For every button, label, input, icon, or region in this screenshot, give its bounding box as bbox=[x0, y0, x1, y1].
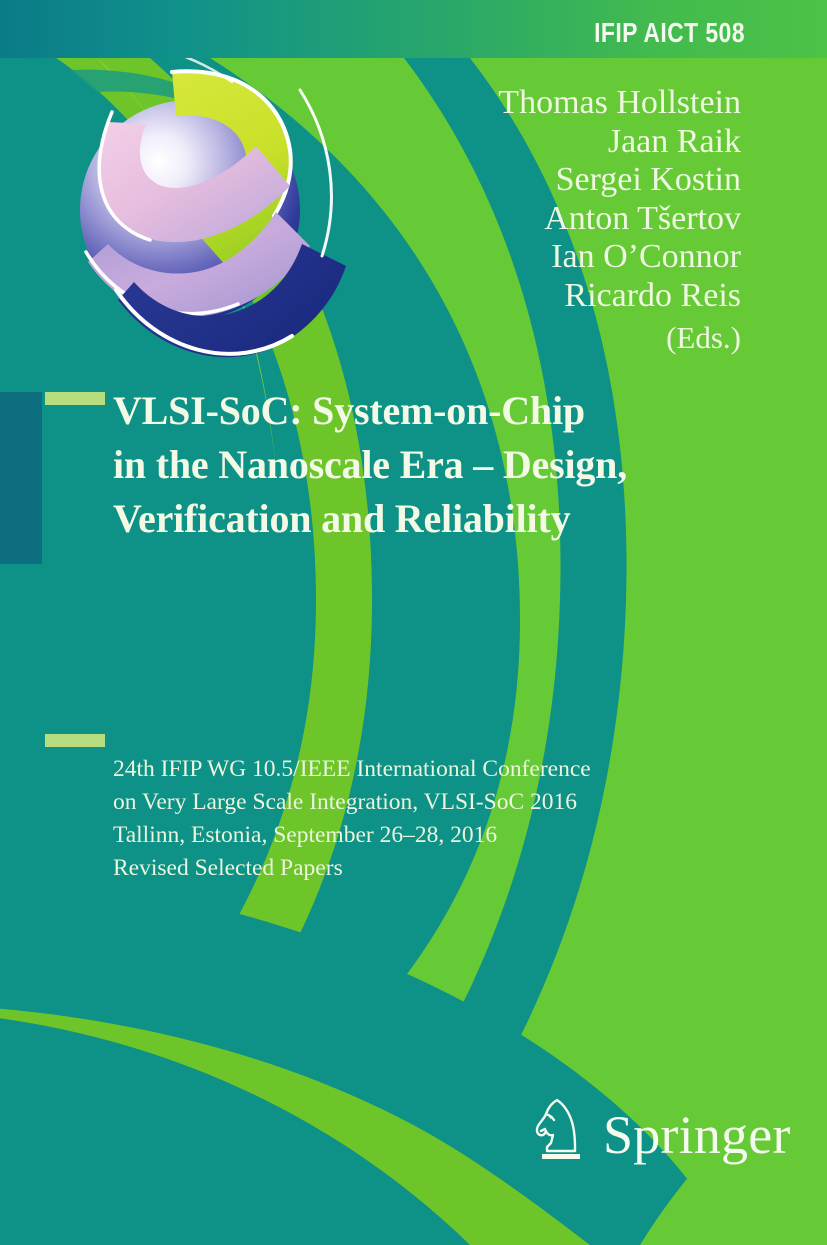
subtitle-line: on Very Large Scale Integration, VLSI-So… bbox=[113, 786, 813, 819]
springer-logo: Springer bbox=[527, 1093, 791, 1163]
title-accent-dash-icon bbox=[45, 392, 105, 405]
springer-wordmark: Springer bbox=[603, 1107, 791, 1163]
book-title: VLSI-SoC: System-on-Chip in the Nanoscal… bbox=[113, 384, 793, 546]
series-label: IFIP AICT 508 bbox=[594, 17, 745, 49]
author-name: Ian O’Connor bbox=[141, 238, 741, 277]
author-name: Sergei Kostin bbox=[141, 161, 741, 200]
springer-knight-icon bbox=[527, 1093, 589, 1163]
author-name: Anton Tšertov bbox=[141, 200, 741, 239]
author-name: Ricardo Reis bbox=[141, 277, 741, 316]
subtitle-line: 24th IFIP WG 10.5/IEEE International Con… bbox=[113, 753, 813, 786]
book-cover: IFIP AICT 508 Thomas Hollstein Jaan Raik… bbox=[0, 0, 827, 1245]
title-line: VLSI-SoC: System-on-Chip bbox=[113, 384, 793, 438]
subtitle-line: Tallinn, Estonia, September 26–28, 2016 bbox=[113, 819, 813, 852]
title-line: in the Nanoscale Era – Design, bbox=[113, 438, 793, 492]
author-name: Jaan Raik bbox=[141, 123, 741, 162]
author-name: Thomas Hollstein bbox=[141, 84, 741, 123]
conference-details: 24th IFIP WG 10.5/IEEE International Con… bbox=[113, 753, 813, 885]
editors-role: (Eds.) bbox=[141, 315, 741, 361]
title-line: Verification and Reliability bbox=[113, 492, 793, 546]
author-list: Thomas Hollstein Jaan Raik Sergei Kostin… bbox=[141, 84, 741, 361]
subtitle-line: Revised Selected Papers bbox=[113, 852, 813, 885]
subtitle-accent-dash-icon bbox=[45, 734, 105, 747]
